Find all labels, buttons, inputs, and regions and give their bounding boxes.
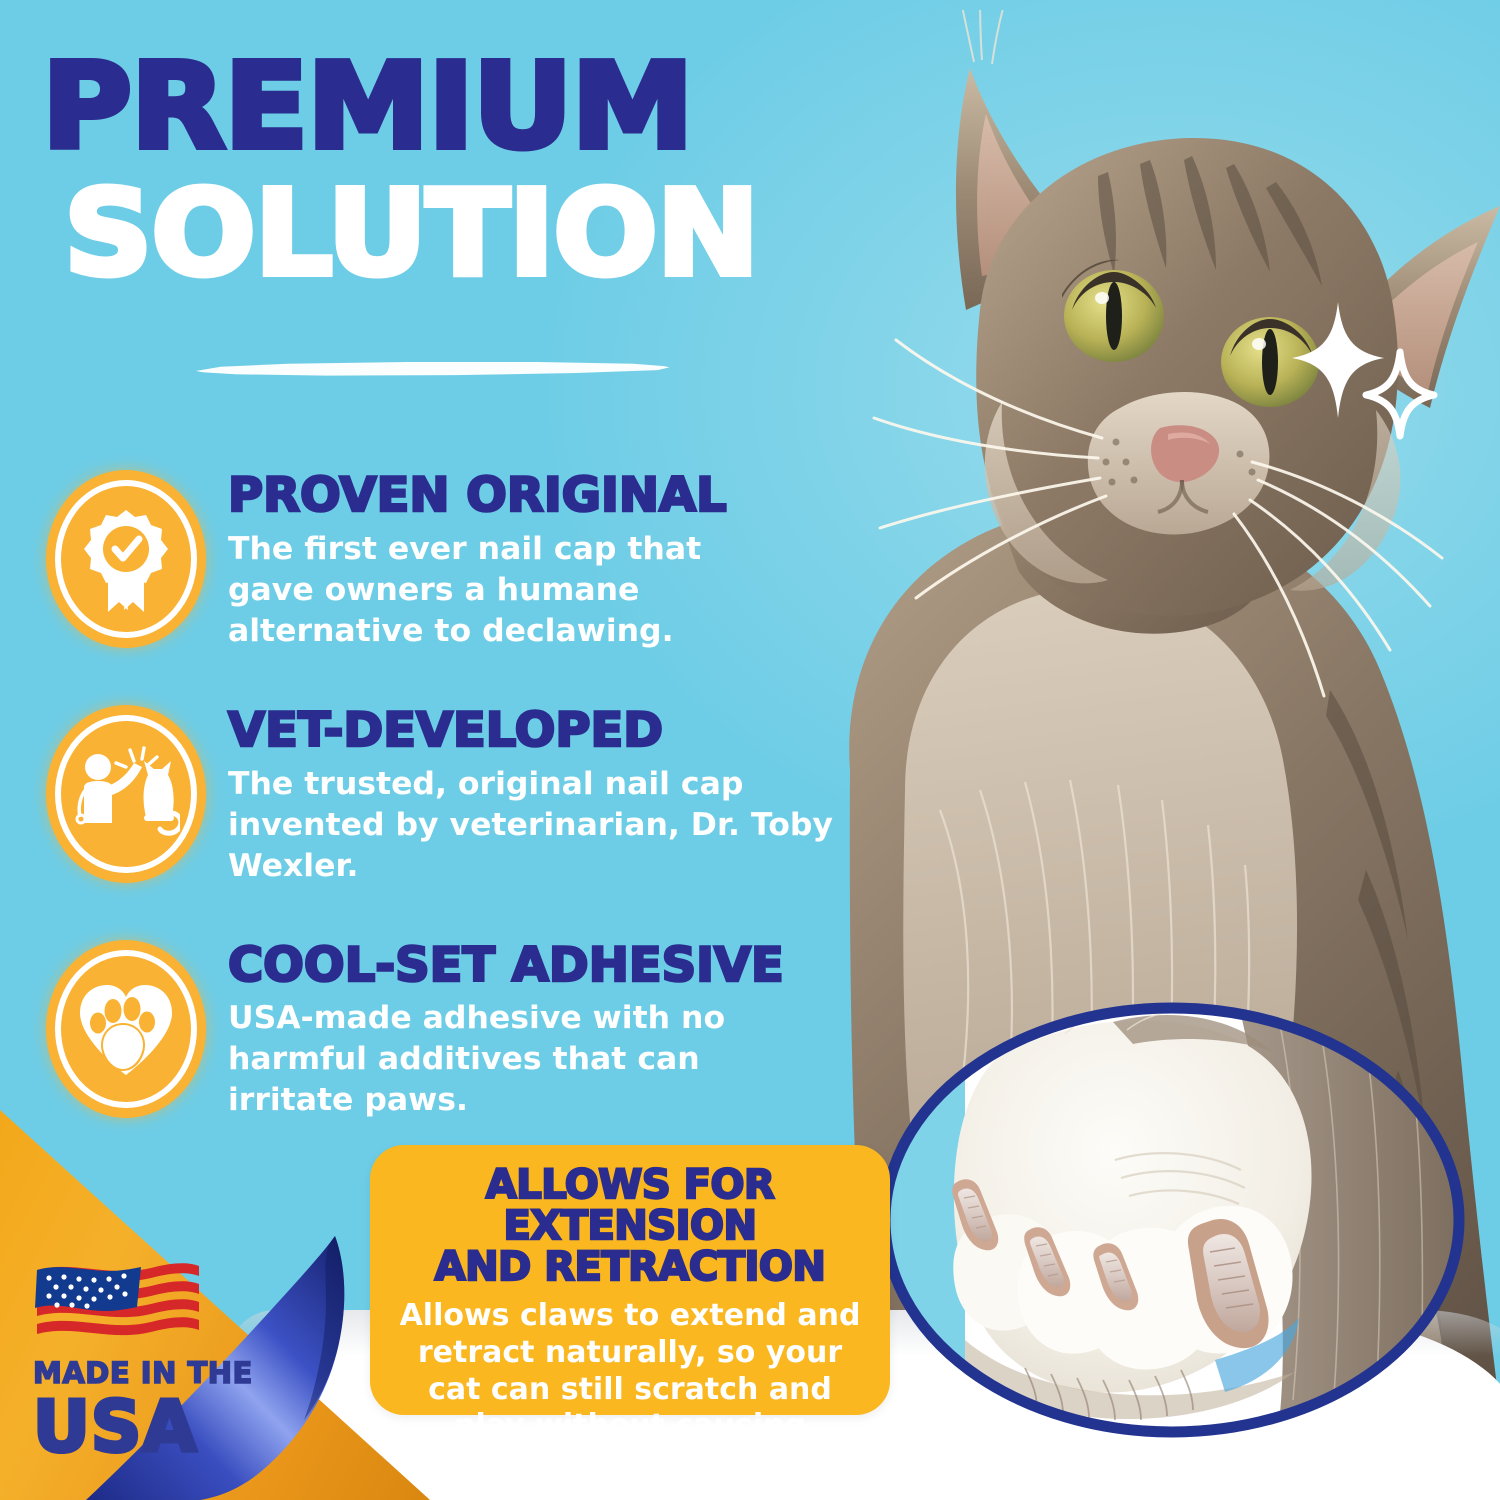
vet-high-five-cat-icon bbox=[46, 705, 206, 883]
award-ribbon-icon bbox=[46, 470, 206, 648]
usa-flag-icon bbox=[33, 1254, 203, 1349]
heart-paw-icon bbox=[46, 940, 206, 1118]
callout-title-line-2: AND RETRACTION bbox=[388, 1247, 872, 1288]
cat-paw-with-nail-caps-closeup bbox=[875, 1000, 1470, 1440]
extension-retraction-callout: ALLOWS FOR EXTENSION AND RETRACTION Allo… bbox=[370, 1145, 890, 1415]
made-in-usa-line-1: MADE IN THE bbox=[33, 1359, 268, 1388]
feature-description: The first ever nail cap that gave owners… bbox=[228, 529, 788, 652]
made-in-usa-badge: MADE IN THE USA bbox=[33, 1254, 268, 1462]
swoosh-divider bbox=[192, 358, 672, 380]
infographic-canvas: PREMIUM SOLUTION PROVEN ORIGINAL The fir… bbox=[0, 0, 1500, 1500]
sparkles-group bbox=[1280, 300, 1445, 440]
callout-body: Allows claws to extend and retract natur… bbox=[388, 1298, 872, 1481]
made-in-usa-line-2: USA bbox=[33, 1392, 268, 1462]
callout-title-line-1: ALLOWS FOR EXTENSION bbox=[388, 1165, 872, 1247]
sparkle-star-outline-icon bbox=[1366, 352, 1434, 436]
sparkle-star-filled-icon bbox=[1292, 302, 1384, 418]
